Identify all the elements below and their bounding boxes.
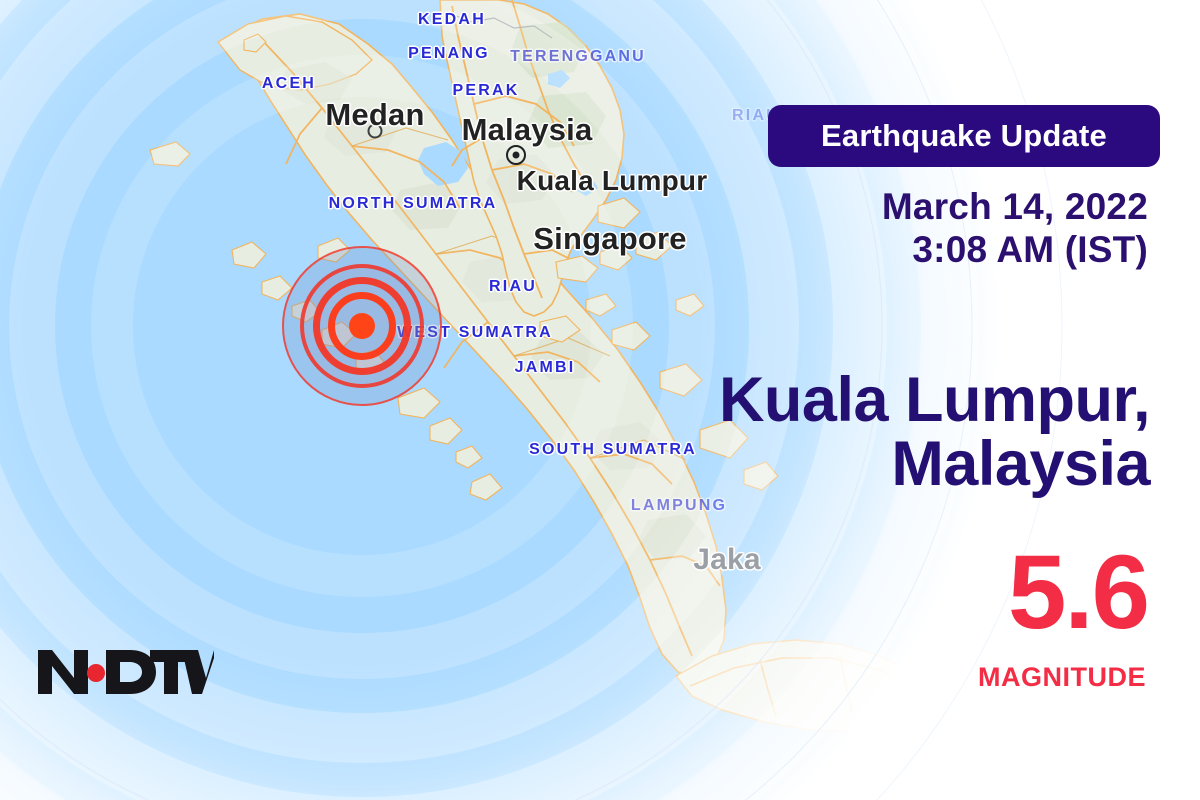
map-label-riau: RIAU: [489, 278, 537, 296]
datetime-block: March 14, 2022 3:08 AM (IST): [882, 186, 1148, 272]
magnitude-label: MAGNITUDE: [978, 662, 1146, 693]
map-label-jambi: JAMBI: [515, 359, 576, 377]
logo-letter-v: [182, 650, 214, 694]
location-line-1: Kuala Lumpur,: [719, 368, 1150, 432]
ndtv-logo: [36, 648, 214, 701]
date-text: March 14, 2022: [882, 186, 1148, 229]
map-label-south-sumatra: SOUTH SUMATRA: [529, 441, 697, 459]
logo-red-dot: [87, 664, 105, 682]
map-label-terengganu: TERENGGANU: [510, 48, 646, 66]
map-label-kuala-lumpur: Kuala Lumpur: [517, 165, 708, 197]
logo-letter-n: [38, 650, 88, 694]
map-label-penang: PENANG: [408, 45, 490, 63]
magnitude-value: 5.6: [1008, 540, 1148, 645]
map-label-medan: Medan: [325, 97, 424, 133]
earthquake-update-badge: Earthquake Update: [768, 105, 1160, 167]
time-text: 3:08 AM (IST): [882, 229, 1148, 272]
badge-label: Earthquake Update: [821, 118, 1107, 154]
map-label-north-sumatra: NORTH SUMATRA: [329, 195, 498, 213]
map-label-kedah: KEDAH: [418, 11, 486, 29]
ndtv-logo-svg: [36, 648, 214, 696]
map-label-malaysia: Malaysia: [462, 112, 593, 148]
map-label-lampung: LAMPUNG: [631, 497, 727, 515]
earthquake-update-graphic: KEDAH PENANG TERENGGANU PERAK ACEH NORTH…: [0, 0, 1200, 800]
epicenter-core: [349, 313, 375, 339]
location-title: Kuala Lumpur, Malaysia: [719, 368, 1150, 497]
map-label-aceh: ACEH: [262, 75, 316, 93]
map-label-jakarta: Jaka: [693, 543, 761, 577]
logo-letter-d: [106, 650, 156, 694]
location-line-2: Malaysia: [719, 432, 1150, 496]
map-label-singapore: Singapore: [533, 221, 686, 257]
kuala-lumpur-marker: [506, 145, 526, 165]
map-label-perak: PERAK: [452, 82, 519, 100]
